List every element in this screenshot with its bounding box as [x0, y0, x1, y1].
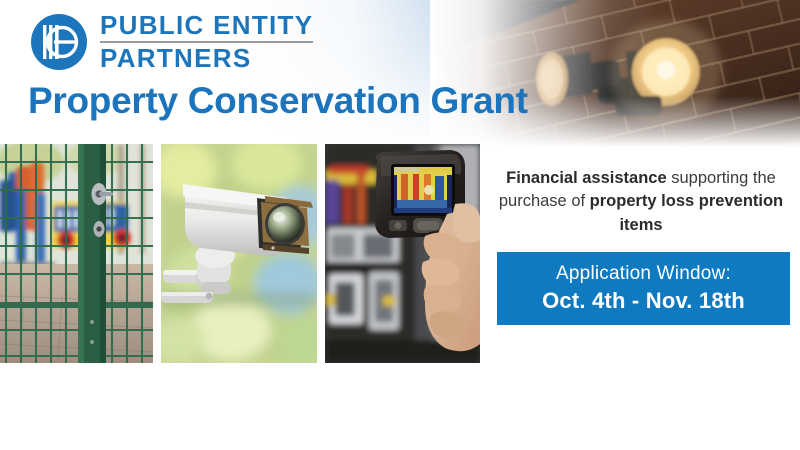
tagline-bold-1: Financial assistance [506, 169, 667, 187]
brand-name-line-2: PARTNERS [100, 45, 313, 72]
application-window-label: Application Window: [556, 263, 731, 285]
application-window-callout: Application Window: Oct. 4th - Nov. 18th [497, 252, 790, 325]
brand-name-line-1: PUBLIC ENTITY [100, 12, 313, 39]
thermal-imaging-camera-photo [325, 144, 480, 363]
property-conservation-grant-flyer: PUBLIC ENTITY PARTNERS Property Conserva… [0, 0, 800, 450]
application-window-dates: Oct. 4th - Nov. 18th [542, 288, 745, 314]
brand-logo: PUBLIC ENTITY PARTNERS [30, 12, 313, 72]
public-entity-partners-circle-logo-icon [30, 13, 88, 71]
tagline: Financial assistance supporting the purc… [495, 167, 787, 237]
security-fence-gate-playground-photo [0, 144, 153, 363]
security-camera-photo [161, 144, 317, 363]
floodlight-brick-wall-background-photo [430, 0, 800, 150]
brand-wordmark: PUBLIC ENTITY PARTNERS [100, 12, 313, 72]
tagline-bold-2: property loss prevention items [590, 192, 783, 233]
page-title: Property Conservation Grant [28, 80, 528, 122]
